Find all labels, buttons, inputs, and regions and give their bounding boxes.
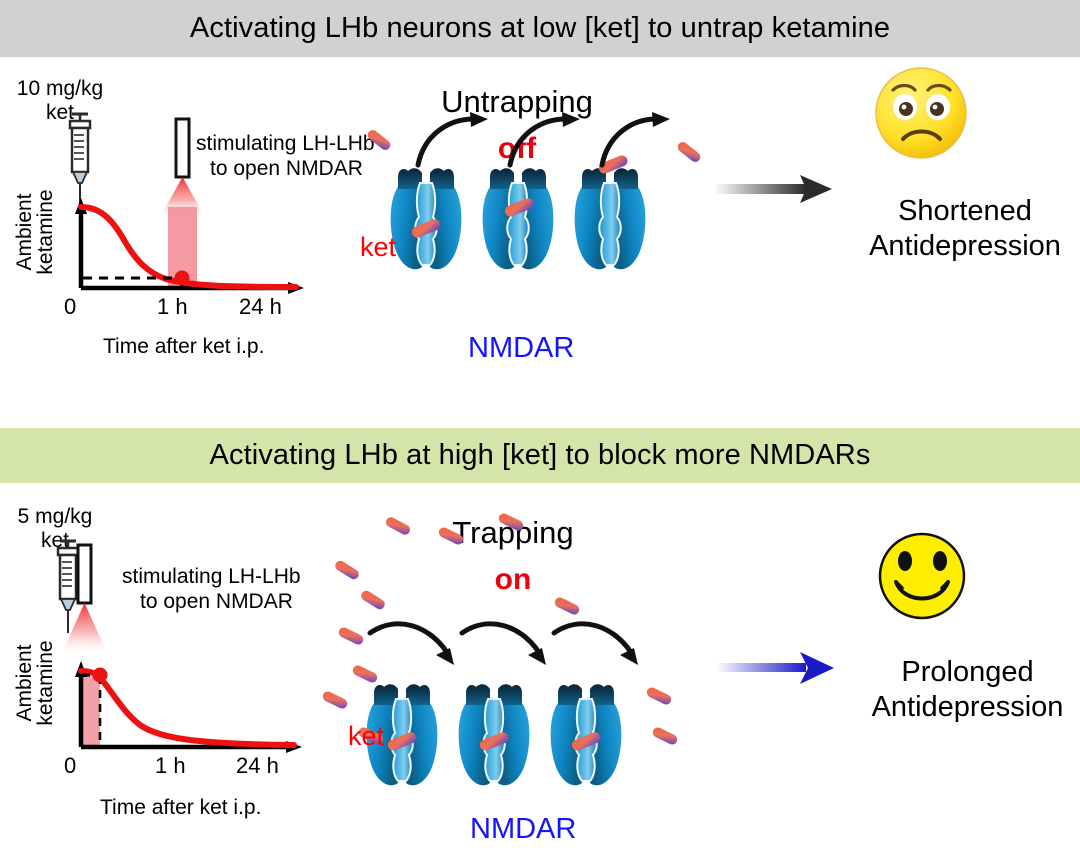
receptor-diagram-trapping: Trapping on	[330, 483, 700, 858]
ket-molecule	[645, 686, 673, 706]
chart-high-dose: 5 mg/kg ket Ambient ketamine stimulating…	[0, 483, 330, 813]
transition-arrow-blue	[716, 652, 834, 684]
plot-area-high	[0, 483, 330, 773]
nmdar-receptor	[459, 684, 530, 785]
ket-molecule	[497, 512, 525, 532]
untrap-arrow	[418, 112, 488, 165]
stim-marker-low	[175, 271, 190, 286]
happy-face-icon	[880, 534, 964, 618]
ket-molecule	[337, 626, 365, 646]
plot-area-low	[0, 57, 330, 317]
nmdar-label-trapping: NMDAR	[470, 813, 576, 846]
ket-label-trapping: ket	[348, 721, 384, 752]
syringe-icon-low	[70, 114, 90, 203]
syringe-icon-high	[58, 541, 78, 633]
x-axis-title-low: Time after ket i.p.	[103, 335, 264, 359]
banner-title-low-dose: Activating LHb neurons at low [ket] to u…	[190, 12, 890, 45]
banner-title-high-dose: Activating LHb at high [ket] to block mo…	[210, 439, 871, 472]
untrap-arrow	[602, 112, 670, 165]
receptor-diagram-untrapping: Untrapping off	[340, 57, 700, 377]
ket-molecule	[351, 664, 379, 684]
x-tick-24h-high: 24 h	[236, 753, 279, 779]
panel-high-dose: Activating LHb at high [ket] to block mo…	[0, 428, 1080, 860]
trap-arrow	[462, 624, 546, 665]
ket-molecule	[651, 726, 679, 746]
ket-molecule	[553, 596, 581, 616]
stim-marker-high	[93, 668, 108, 683]
decay-curve-high	[81, 671, 294, 745]
x-axis-title-high: Time after ket i.p.	[100, 796, 261, 820]
outcome-prolonged: Prolonged Antidepression	[700, 528, 1080, 808]
outcome-text-shortened: Shortened Antidepression	[850, 194, 1080, 264]
nmdar-receptor	[551, 684, 622, 785]
x-tick-0-low: 0	[64, 294, 76, 320]
nmdar-label-untrapping: NMDAR	[468, 332, 574, 365]
untrap-arrow	[510, 112, 580, 165]
banner-low-dose: Activating LHb neurons at low [ket] to u…	[0, 0, 1080, 57]
x-tick-1h-high: 1 h	[155, 753, 186, 779]
ket-label-untrapping: ket	[360, 232, 396, 263]
x-tick-1h-low: 1 h	[157, 294, 188, 320]
nmdar-receptor	[575, 154, 646, 270]
x-tick-0-high: 0	[64, 753, 76, 779]
x-tick-24h-low: 24 h	[239, 294, 282, 320]
early-stim-area-high	[82, 676, 100, 747]
outcome-text-prolonged: Prolonged Antidepression	[855, 655, 1080, 725]
chart-low-dose: 10 mg/kg ket Ambient ketamine stimulatin…	[0, 57, 330, 367]
ket-molecule	[333, 559, 360, 581]
nmdar-receptor	[483, 168, 554, 269]
ket-molecule	[384, 515, 412, 536]
ket-molecule	[359, 589, 386, 611]
outcome-shortened: Shortened Antidepression	[700, 57, 1080, 367]
nmdar-receptor	[391, 168, 462, 269]
panel-low-dose: Activating LHb neurons at low [ket] to u…	[0, 0, 1080, 420]
trap-arrow	[370, 624, 454, 665]
trap-arrow	[554, 624, 638, 665]
ket-molecule	[676, 140, 703, 164]
transition-arrow-gray	[714, 175, 832, 203]
ket-molecule	[437, 526, 465, 546]
banner-high-dose: Activating LHb at high [ket] to block mo…	[0, 428, 1080, 483]
optical-stimulation-low	[159, 119, 206, 289]
ket-molecule	[366, 128, 393, 152]
sad-face-icon	[876, 68, 966, 158]
